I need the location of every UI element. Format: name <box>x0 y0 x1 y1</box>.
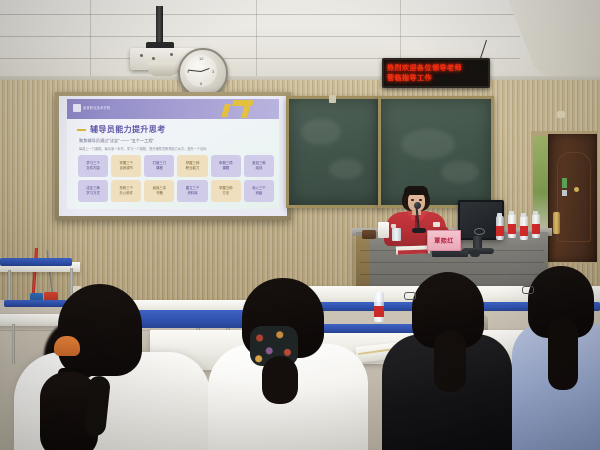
door-sticker <box>562 190 567 196</box>
student-far-right-ponytail <box>548 318 578 390</box>
entry-door[interactable] <box>548 134 597 262</box>
slide-cell: 打造三门 课程 <box>144 155 174 177</box>
ceiling-seam <box>256 0 257 76</box>
slide-logo: 某某职业技术学院 <box>73 104 110 112</box>
slide-cell-line2: 课程 <box>156 166 163 171</box>
door-sticker <box>562 178 567 188</box>
slide-cell: 申报三项 课题 <box>211 155 241 177</box>
slide-cell: 建立三个 资料库 <box>177 180 207 202</box>
slide-cell-line2: 资料库 <box>187 191 197 196</box>
bottle-cap <box>533 211 538 215</box>
student-front-center-ponytail <box>262 356 298 404</box>
bottle-cap <box>497 213 502 217</box>
slide-cell: 掌握五种 方法 <box>211 180 241 202</box>
student-mid-right-ponytail <box>434 330 466 392</box>
microphone-base <box>412 228 426 233</box>
slide-cell-line2: 学习方式 <box>86 191 100 196</box>
keyboard[interactable] <box>432 251 468 257</box>
slide-cell: 深入三个 班级 <box>244 180 274 202</box>
slide-subtitle-primary: 聚焦辅导员通过“法宝” —— “五个一工程” <box>79 138 154 144</box>
slide-cell: 参加三种 培训 <box>244 155 274 177</box>
blackboard-left <box>286 96 382 208</box>
slide-cell-line2: 班级 <box>256 191 263 196</box>
desk-leg <box>12 324 15 364</box>
slide-cell-line2: 课题 <box>222 166 229 171</box>
bottle-cap <box>509 211 514 215</box>
projection-screen-frame: 某某职业技术学院 辅导员能力提升思考 聚焦辅导员通过“法宝” —— “五个一工程… <box>55 92 291 220</box>
spare-chair-seat <box>4 300 68 307</box>
desk-leg <box>8 270 11 304</box>
slide-cell-line2: 办公软件 <box>119 191 133 196</box>
bottle-label <box>496 226 504 236</box>
bottle-cap <box>521 213 526 217</box>
slide-title: 辅导员能力提升思考 <box>90 124 166 135</box>
monitor-brand-logo-icon <box>474 228 485 235</box>
slide-cell: 熟练三个 办公软件 <box>111 180 141 202</box>
slide-cell: 阅读三本 书籍 <box>144 180 174 202</box>
slide-cell-line2: 书籍 <box>156 191 163 196</box>
slide-cell-line2: 自我调节 <box>119 166 133 171</box>
slide-cell-grid: 学习三个 文件内容 掌握三个 自我调节 打造三门 课程 掌握三种 职业能力 <box>78 155 274 202</box>
projection-screen: 某某职业技术学院 辅导员能力提升思考 聚焦辅导员通过“法宝” —— “五个一工程… <box>59 96 287 216</box>
presenter-fringe <box>404 186 428 195</box>
name-placard-text: 覃熙红 <box>434 236 454 245</box>
ceiling-seam <box>90 0 91 76</box>
slide-cell: 学习三个 文件内容 <box>78 155 108 177</box>
door-handle[interactable] <box>553 212 560 234</box>
slide-logo-text: 某某职业技术学院 <box>83 106 110 110</box>
student-mid-right-glasses <box>404 292 416 300</box>
slide-cell: 掌握三个 自我调节 <box>111 155 141 177</box>
presenter-eye <box>411 199 414 201</box>
led-sign-line1: 热烈欢迎各位领导老师 <box>387 63 462 73</box>
desk-cup[interactable] <box>392 228 401 241</box>
slide-cell-line2: 培训 <box>256 166 263 171</box>
clock-number: 3 <box>212 69 214 74</box>
slide-arrow-decoration <box>219 99 265 119</box>
slide-cell-line2: 职业能力 <box>186 166 200 171</box>
slide-cell: 法定三种 学习方式 <box>78 180 108 202</box>
ceiling-seam <box>0 36 520 37</box>
led-sign-line2: 菅临指导工作 <box>387 73 432 83</box>
bottle-label <box>374 306 384 317</box>
name-placard: 覃熙红 <box>427 230 461 251</box>
slide-cell: 掌握三种 职业能力 <box>177 155 207 177</box>
bottle-label <box>520 226 528 236</box>
classroom-photo: 12 3 6 9 某某职业技术学院 <box>0 0 600 450</box>
slide-header-bar: 某某职业技术学院 <box>67 99 279 119</box>
bottle-label <box>508 224 516 234</box>
presenter-shirt-logo <box>433 222 440 227</box>
door-panel <box>557 152 591 242</box>
slide-subtitle-secondary: 每周上一门课程，每月读一本书，学习一个课程，提升辅导员教育能力水平，提升一个目标 <box>79 146 207 151</box>
bottle-label <box>532 224 540 234</box>
wall-clock: 12 3 6 9 <box>178 48 228 98</box>
presentation-slide: 某某职业技术学院 辅导员能力提升思考 聚焦辅导员通过“法宝” —— “五个一工程… <box>67 99 279 209</box>
podium-side-panel <box>356 236 370 290</box>
slide-cell-line2: 文件内容 <box>86 166 100 171</box>
door-peephole-icon <box>574 187 579 192</box>
microphone-head-icon[interactable] <box>414 202 421 209</box>
student-far-right-glasses <box>522 286 534 294</box>
university-logo-icon <box>73 104 81 112</box>
title-dash-icon <box>77 129 86 131</box>
orange-object-on-floor <box>54 336 80 356</box>
mouse[interactable] <box>470 250 480 257</box>
projector-lens <box>148 62 178 76</box>
clock-number: 6 <box>200 81 202 86</box>
presenter-eye <box>419 199 422 201</box>
slide-title-row: 辅导员能力提升思考 <box>77 124 166 135</box>
desk-brown-box <box>362 230 376 239</box>
spare-desk-blue-edge <box>0 258 72 266</box>
slide-cell-line2: 方法 <box>222 191 229 196</box>
clock-hour-hand <box>201 68 210 72</box>
led-scrolling-sign: 热烈欢迎各位领导老师 菅临指导工作 <box>382 58 490 88</box>
blackboard-right <box>378 96 494 208</box>
projector-mount-rod <box>156 6 163 44</box>
clock-face: 12 3 6 9 <box>185 55 217 87</box>
clock-number: 12 <box>199 56 203 61</box>
tissue-pack[interactable] <box>378 222 389 238</box>
student-front-left-hair <box>58 284 142 376</box>
wall-sensor <box>557 111 565 118</box>
clock-minute-hand <box>188 70 201 72</box>
